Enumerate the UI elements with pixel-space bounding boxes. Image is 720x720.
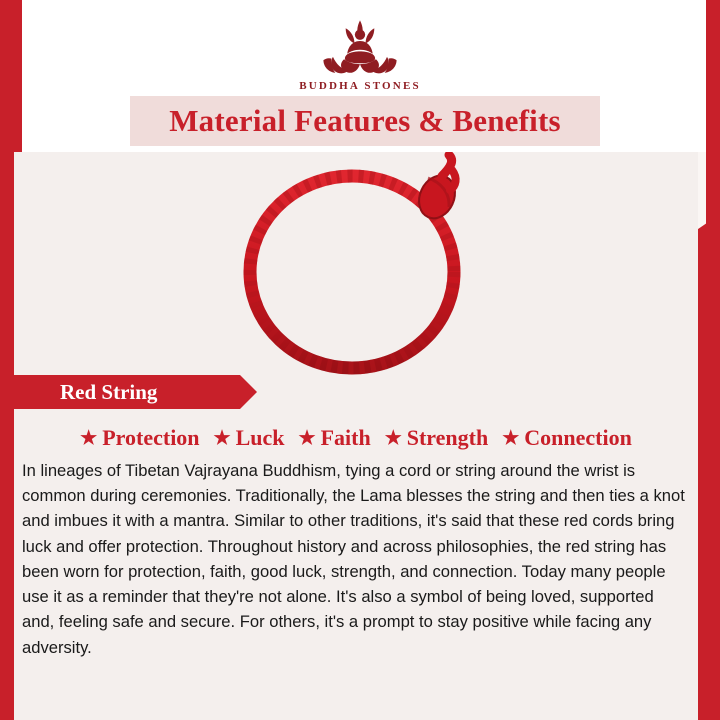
product-image	[14, 152, 698, 392]
benefit-label: Faith	[321, 425, 371, 451]
frame-bar-left-bottom	[0, 300, 14, 720]
star-icon: ★	[299, 429, 316, 448]
brand-name: BUDDHA STONES	[299, 80, 421, 92]
benefit-item: ★ Connection	[495, 425, 639, 451]
benefit-item: ★ Strength	[378, 425, 496, 451]
benefit-label: Protection	[102, 425, 199, 451]
page-title: Material Features & Benefits	[169, 103, 561, 139]
benefit-item: ★ Protection	[73, 425, 206, 451]
star-icon: ★	[80, 429, 97, 448]
lotus-meditation-icon	[312, 14, 408, 76]
star-icon: ★	[214, 429, 231, 448]
frame-bar-right-bottom	[698, 236, 720, 720]
benefits-list: ★ Protection ★ Luck ★ Faith ★ Strength ★…	[14, 420, 698, 456]
benefit-label: Connection	[524, 425, 632, 451]
star-icon: ★	[385, 429, 402, 448]
benefit-item: ★ Faith	[292, 425, 378, 451]
benefit-item: ★ Luck	[207, 425, 292, 451]
product-label-tag: Red String	[0, 375, 240, 409]
title-banner: Material Features & Benefits	[130, 96, 600, 146]
brand-logo: BUDDHA STONES	[0, 14, 720, 92]
product-label: Red String	[60, 380, 157, 405]
red-braided-string-bracelet-icon	[206, 152, 506, 382]
benefit-label: Strength	[407, 425, 489, 451]
star-icon: ★	[502, 429, 519, 448]
infographic-page: BUDDHA STONES Material Features & Benefi…	[0, 0, 720, 720]
benefit-label: Luck	[236, 425, 285, 451]
description-text: In lineages of Tibetan Vajrayana Buddhis…	[22, 458, 690, 660]
